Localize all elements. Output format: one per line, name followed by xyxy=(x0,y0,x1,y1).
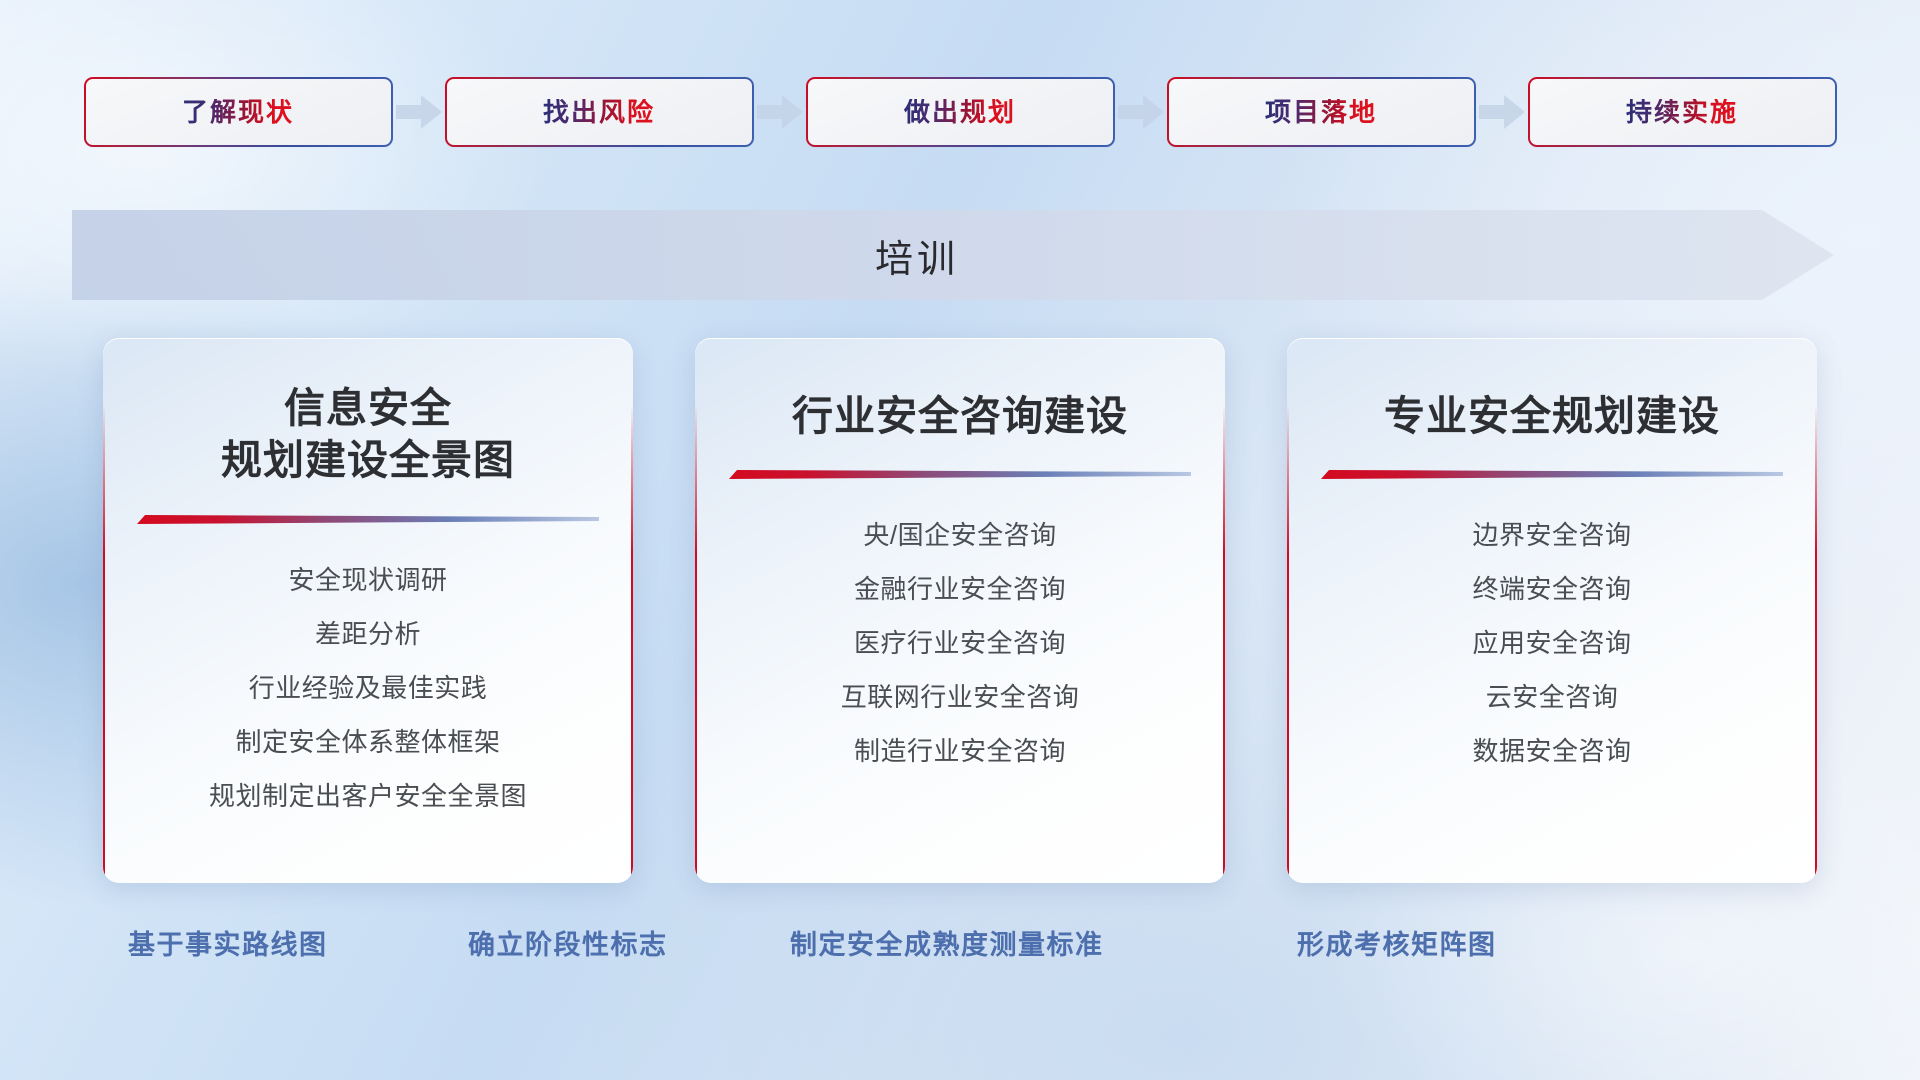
card-title: 信息安全 规划建设全景图 xyxy=(221,382,515,487)
right-arrow-icon xyxy=(1113,79,1169,145)
caption-maturity-metric: 制定安全成熟度测量标准 xyxy=(790,920,1104,964)
list-item: 数据安全咨询 xyxy=(1472,724,1631,778)
process-step-5[interactable]: 持续实施 xyxy=(1530,79,1835,145)
right-arrow-icon xyxy=(391,79,447,145)
training-band: 培训 xyxy=(72,210,1834,300)
list-item: 金融行业安全咨询 xyxy=(854,562,1066,616)
list-item: 边界安全咨询 xyxy=(1472,508,1631,562)
card-title-line: 专业安全规划建设 xyxy=(1384,390,1720,442)
card-title: 行业安全咨询建设 xyxy=(792,390,1128,442)
list-item: 制定安全体系整体框架 xyxy=(235,715,500,769)
caption-milestones: 确立阶段性标志 xyxy=(468,920,668,964)
list-item: 安全现状调研 xyxy=(288,553,447,607)
process-step-3[interactable]: 做出规划 xyxy=(808,79,1113,145)
list-item: 终端安全咨询 xyxy=(1472,562,1631,616)
card-information-security-blueprint[interactable]: 信息安全 规划建设全景图 xyxy=(103,338,633,883)
list-item: 差距分析 xyxy=(315,607,421,661)
caption-assessment-matrix: 形成考核矩阵图 xyxy=(1297,920,1497,964)
training-band-label: 培训 xyxy=(72,210,1762,300)
process-step-4[interactable]: 项目落地 xyxy=(1169,79,1474,145)
gradient-divider-icon xyxy=(729,468,1191,482)
caption-roadmap: 基于事实路线图 xyxy=(128,920,328,964)
list-item: 规划制定出客户安全全景图 xyxy=(209,769,527,823)
gradient-divider-icon xyxy=(137,513,599,527)
card-industry-security-consulting[interactable]: 行业安全咨询建设 央/国 xyxy=(695,338,1225,883)
list-item: 医疗行业安全咨询 xyxy=(854,616,1066,670)
list-item: 行业经验及最佳实践 xyxy=(249,661,488,715)
process-step-row: 了解现状 找出风险 做出规划 项目落地 xyxy=(0,78,1920,146)
card-title-line: 信息安全 xyxy=(221,382,515,434)
process-step-2[interactable]: 找出风险 xyxy=(447,79,752,145)
list-item: 央/国企安全咨询 xyxy=(863,508,1056,562)
card-item-list: 央/国企安全咨询 金融行业安全咨询 医疗行业安全咨询 互联网行业安全咨询 制造行… xyxy=(729,508,1191,778)
process-step-label: 持续实施 xyxy=(1626,99,1738,125)
process-step-label: 找出风险 xyxy=(543,99,655,125)
list-item: 云安全咨询 xyxy=(1486,670,1619,724)
card-row: 信息安全 规划建设全景图 xyxy=(0,338,1920,888)
list-item: 制造行业安全咨询 xyxy=(854,724,1066,778)
card-item-list: 边界安全咨询 终端安全咨询 应用安全咨询 云安全咨询 数据安全咨询 xyxy=(1321,508,1783,778)
gradient-divider-icon xyxy=(1321,468,1783,482)
slide-canvas: 了解现状 找出风险 做出规划 项目落地 xyxy=(0,0,1920,1080)
card-title: 专业安全规划建设 xyxy=(1384,390,1720,442)
card-professional-security-planning[interactable]: 专业安全规划建设 边界安 xyxy=(1287,338,1817,883)
process-step-label: 了解现状 xyxy=(182,99,294,125)
list-item: 应用安全咨询 xyxy=(1472,616,1631,670)
right-arrow-icon xyxy=(752,79,808,145)
right-arrow-icon xyxy=(1474,79,1530,145)
process-step-label: 项目落地 xyxy=(1265,99,1377,125)
card-item-list: 安全现状调研 差距分析 行业经验及最佳实践 制定安全体系整体框架 规划制定出客户… xyxy=(137,553,599,823)
process-step-label: 做出规划 xyxy=(904,99,1016,125)
process-step-1[interactable]: 了解现状 xyxy=(86,79,391,145)
card-title-line: 行业安全咨询建设 xyxy=(792,390,1128,442)
card-title-line: 规划建设全景图 xyxy=(221,434,515,486)
list-item: 互联网行业安全咨询 xyxy=(841,670,1080,724)
caption-row: 基于事实路线图 确立阶段性标志 制定安全成熟度测量标准 形成考核矩阵图 xyxy=(0,920,1920,980)
